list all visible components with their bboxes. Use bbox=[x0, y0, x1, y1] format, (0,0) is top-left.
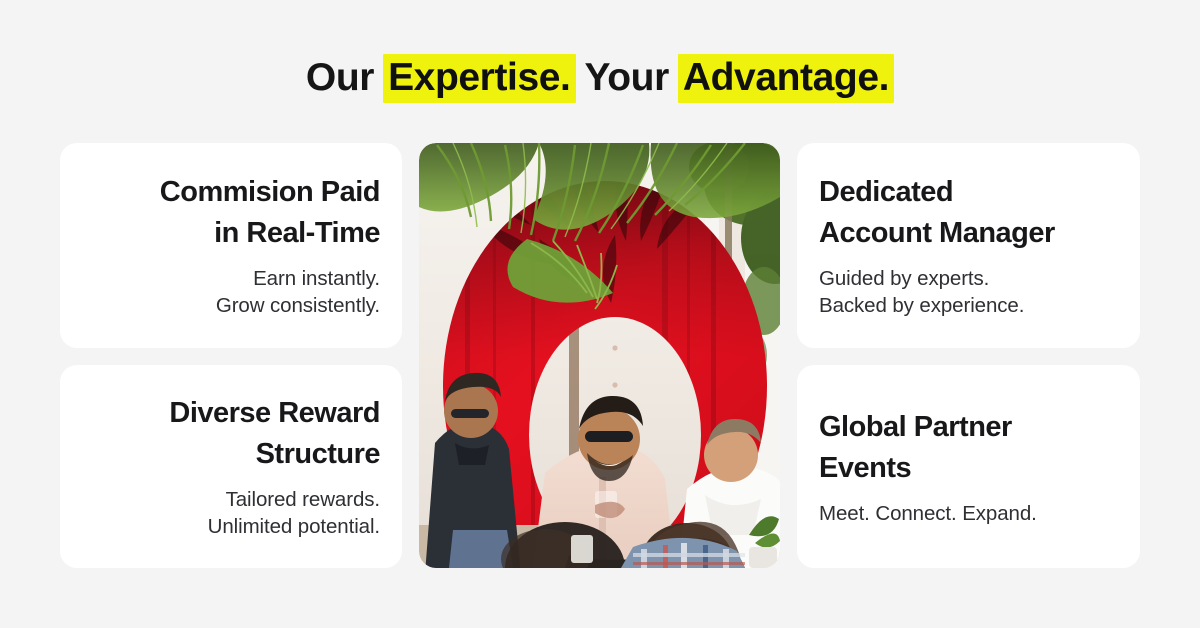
headline-segment-1: Expertise. bbox=[383, 54, 575, 103]
feature-card-subtitle: Guided by experts. Backed by experience. bbox=[819, 265, 1024, 319]
center-photo bbox=[419, 143, 780, 568]
feature-card-title-line: Account Manager bbox=[819, 213, 1055, 254]
headline-segment-2: Your bbox=[585, 56, 669, 99]
feature-card-title-line: Events bbox=[819, 448, 1012, 489]
feature-card-title: Global Partner Events bbox=[819, 407, 1012, 489]
promo-poster: OurExpertise.YourAdvantage. Commision Pa… bbox=[0, 0, 1200, 628]
feature-card-diverse-reward[interactable]: Diverse Reward Structure Tailored reward… bbox=[60, 365, 402, 568]
feature-card-subtitle: Tailored rewards. Unlimited potential. bbox=[208, 486, 380, 540]
feature-card-subtitle-line: Unlimited potential. bbox=[208, 513, 380, 540]
headline-segment-3: Advantage. bbox=[678, 54, 894, 103]
feature-card-subtitle: Meet. Connect. Expand. bbox=[819, 500, 1037, 527]
feature-card-title-line: in Real-Time bbox=[160, 213, 380, 254]
feature-card-global-partner-events[interactable]: Global Partner Events Meet. Connect. Exp… bbox=[797, 365, 1140, 568]
feature-card-title: Diverse Reward Structure bbox=[169, 393, 380, 475]
left-card-column: Commision Paid in Real-Time Earn instant… bbox=[60, 143, 402, 568]
feature-card-title-line: Dedicated bbox=[819, 172, 1055, 213]
feature-card-subtitle-line: Meet. Connect. Expand. bbox=[819, 500, 1037, 527]
page-title: OurExpertise.YourAdvantage. bbox=[0, 56, 1200, 100]
feature-card-subtitle-line: Grow consistently. bbox=[216, 292, 380, 319]
feature-card-subtitle-line: Earn instantly. bbox=[216, 265, 380, 292]
feature-card-title-line: Diverse Reward bbox=[169, 393, 380, 434]
feature-card-dedicated-account-manager[interactable]: Dedicated Account Manager Guided by expe… bbox=[797, 143, 1140, 348]
feature-card-commission-paid[interactable]: Commision Paid in Real-Time Earn instant… bbox=[60, 143, 402, 348]
feature-card-title: Dedicated Account Manager bbox=[819, 172, 1055, 254]
feature-card-title-line: Global Partner bbox=[819, 407, 1012, 448]
right-card-column: Dedicated Account Manager Guided by expe… bbox=[797, 143, 1140, 568]
feature-card-subtitle: Earn instantly. Grow consistently. bbox=[216, 265, 380, 319]
feature-card-title-line: Structure bbox=[169, 434, 380, 475]
feature-card-title: Commision Paid in Real-Time bbox=[160, 172, 380, 254]
feature-card-subtitle-line: Tailored rewards. bbox=[208, 486, 380, 513]
feature-card-subtitle-line: Guided by experts. bbox=[819, 265, 1024, 292]
headline-segment-0: Our bbox=[306, 56, 374, 99]
feature-card-title-line: Commision Paid bbox=[160, 172, 380, 213]
center-image-column bbox=[419, 143, 780, 568]
feature-card-subtitle-line: Backed by experience. bbox=[819, 292, 1024, 319]
